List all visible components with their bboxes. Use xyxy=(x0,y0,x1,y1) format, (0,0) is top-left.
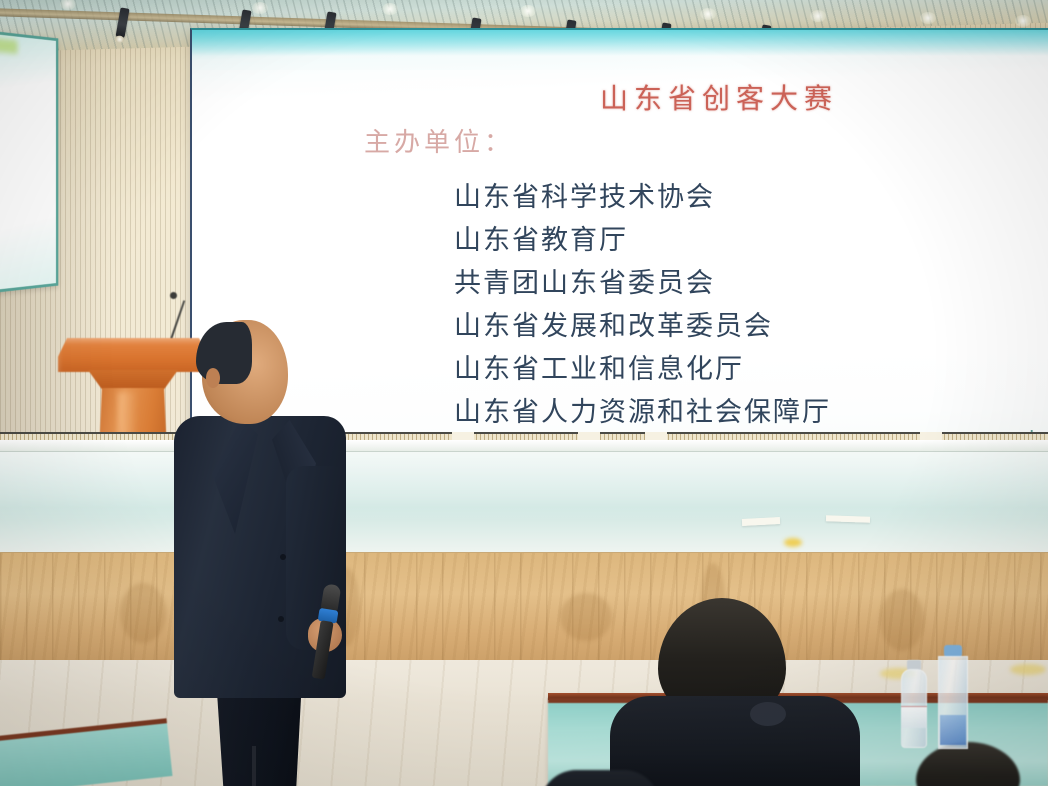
presenter-ear xyxy=(206,368,220,388)
audience-shoulders xyxy=(540,770,660,786)
side-screen-green-highlight xyxy=(0,36,17,54)
audience-collar xyxy=(750,702,786,726)
lectern-neck xyxy=(88,370,178,390)
wood-grain xyxy=(880,589,924,651)
presenter-leg-seam xyxy=(252,746,256,786)
presenter xyxy=(168,316,348,786)
floor-light-reflection xyxy=(1010,664,1046,675)
list-item: 共青团山东省委员会 xyxy=(454,262,831,305)
wood-grain xyxy=(120,583,166,643)
audience-member xyxy=(540,770,660,786)
list-item: 山东省教育厅 xyxy=(454,219,831,262)
stage-floor-lip xyxy=(0,440,1048,452)
bottle-water-level xyxy=(940,715,966,745)
coat-button xyxy=(278,616,284,622)
photo-scene: 山东省创客大赛 主办单位： 山东省科学技术协会 山东省教育厅 共青团山东省委员会… xyxy=(0,0,1048,786)
presenter-hair-side xyxy=(196,322,252,384)
water-bottle-tall xyxy=(938,645,968,749)
slide-title: 山东省创客大赛 xyxy=(600,77,838,117)
bottle-label xyxy=(901,706,927,728)
list-item: 山东省发展和改革委员会 xyxy=(454,305,831,348)
list-item: 山东省科学技术协会 xyxy=(454,176,831,219)
audience-head xyxy=(916,742,1020,786)
stage-floor xyxy=(0,440,1048,570)
gooseneck-microphone-head-icon xyxy=(170,292,177,299)
audience-member xyxy=(900,742,1048,786)
list-item: 山东省工业和信息化厅 xyxy=(454,348,831,391)
stage-front-wood-panel xyxy=(0,552,1048,670)
organizer-list: 山东省科学技术协会 山东省教育厅 共青团山东省委员会 山东省发展和改革委员会 山… xyxy=(454,176,831,434)
wood-grain xyxy=(560,593,612,641)
slide-subtitle-organizers-label: 主办单位： xyxy=(364,122,514,159)
audience-member xyxy=(616,598,846,786)
side-projection-screen xyxy=(0,28,58,296)
presenter-legs xyxy=(204,688,310,786)
water-bottle-short xyxy=(901,660,927,748)
floor-marker-dot xyxy=(784,538,802,547)
